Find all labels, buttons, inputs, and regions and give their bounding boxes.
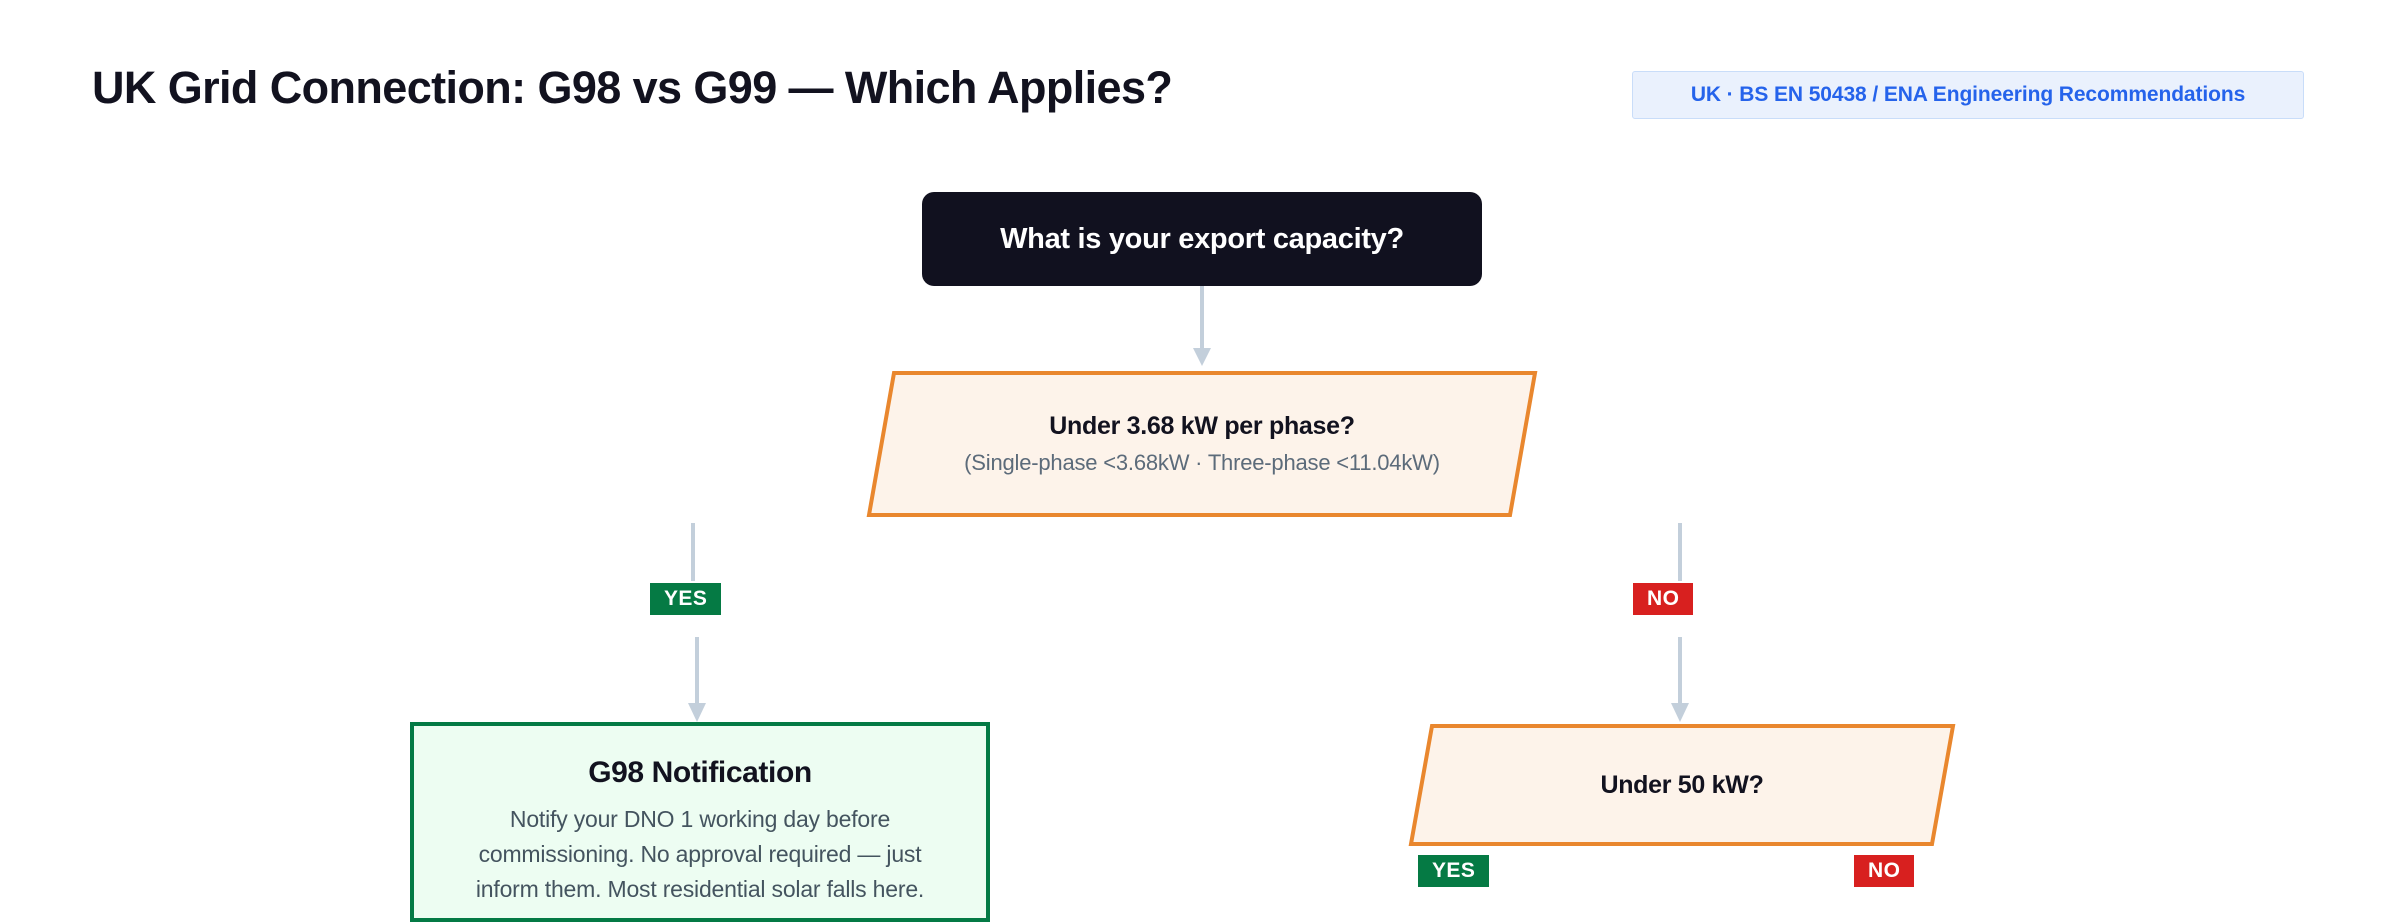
decision-under-50-kw[interactable]: Under 50 kW? xyxy=(1408,723,1956,847)
edge-label-text: YES xyxy=(664,587,707,611)
connector-yes-to-g98 xyxy=(685,637,709,725)
flowchart-page: UK Grid Connection: G98 vs G99 — Which A… xyxy=(0,0,2400,920)
standard-badge: UK · BS EN 50438 / ENA Engineering Recom… xyxy=(1632,71,2304,119)
node-start-label: What is your export capacity? xyxy=(1000,223,1404,256)
arrow-down-icon xyxy=(685,637,709,725)
edge-label-yes-50kw: YES xyxy=(1418,855,1489,887)
line-vertical-icon xyxy=(1676,523,1684,581)
decision-title: Under 50 kW? xyxy=(1600,771,1763,800)
standard-badge-label: UK · BS EN 50438 / ENA Engineering Recom… xyxy=(1691,83,2245,107)
line-vertical-icon xyxy=(689,523,697,581)
edge-label-text: NO xyxy=(1868,859,1900,883)
result-body: Notify your DNO 1 working day before com… xyxy=(475,802,925,907)
edge-label-yes-capacity: YES xyxy=(650,583,721,615)
edge-label-no-capacity: NO xyxy=(1633,583,1693,615)
result-title: G98 Notification xyxy=(588,756,812,790)
arrow-down-icon xyxy=(1190,286,1214,370)
page-title: UK Grid Connection: G98 vs G99 — Which A… xyxy=(92,62,1172,114)
arrow-down-icon xyxy=(1668,637,1692,725)
connector-capacity-yes-upper xyxy=(689,523,697,581)
node-start-export-capacity[interactable]: What is your export capacity? xyxy=(922,192,1482,286)
decision-text-block: Under 50 kW? xyxy=(1408,723,1956,847)
decision-subtitle: (Single-phase <3.68kW · Three-phase <11.… xyxy=(964,450,1440,476)
decision-under-3-68-kw[interactable]: Under 3.68 kW per phase? (Single-phase <… xyxy=(866,370,1538,518)
edge-label-text: YES xyxy=(1432,859,1475,883)
connector-capacity-no-upper xyxy=(1676,523,1684,581)
decision-text-block: Under 3.68 kW per phase? (Single-phase <… xyxy=(866,370,1538,518)
decision-title: Under 3.68 kW per phase? xyxy=(1049,412,1354,441)
edge-label-no-50kw: NO xyxy=(1854,855,1914,887)
connector-no-to-50kw xyxy=(1668,637,1692,725)
connector-start-to-capacity xyxy=(1190,286,1214,370)
edge-label-text: NO xyxy=(1647,587,1679,611)
result-card-g98[interactable]: G98 Notification Notify your DNO 1 worki… xyxy=(410,722,990,922)
